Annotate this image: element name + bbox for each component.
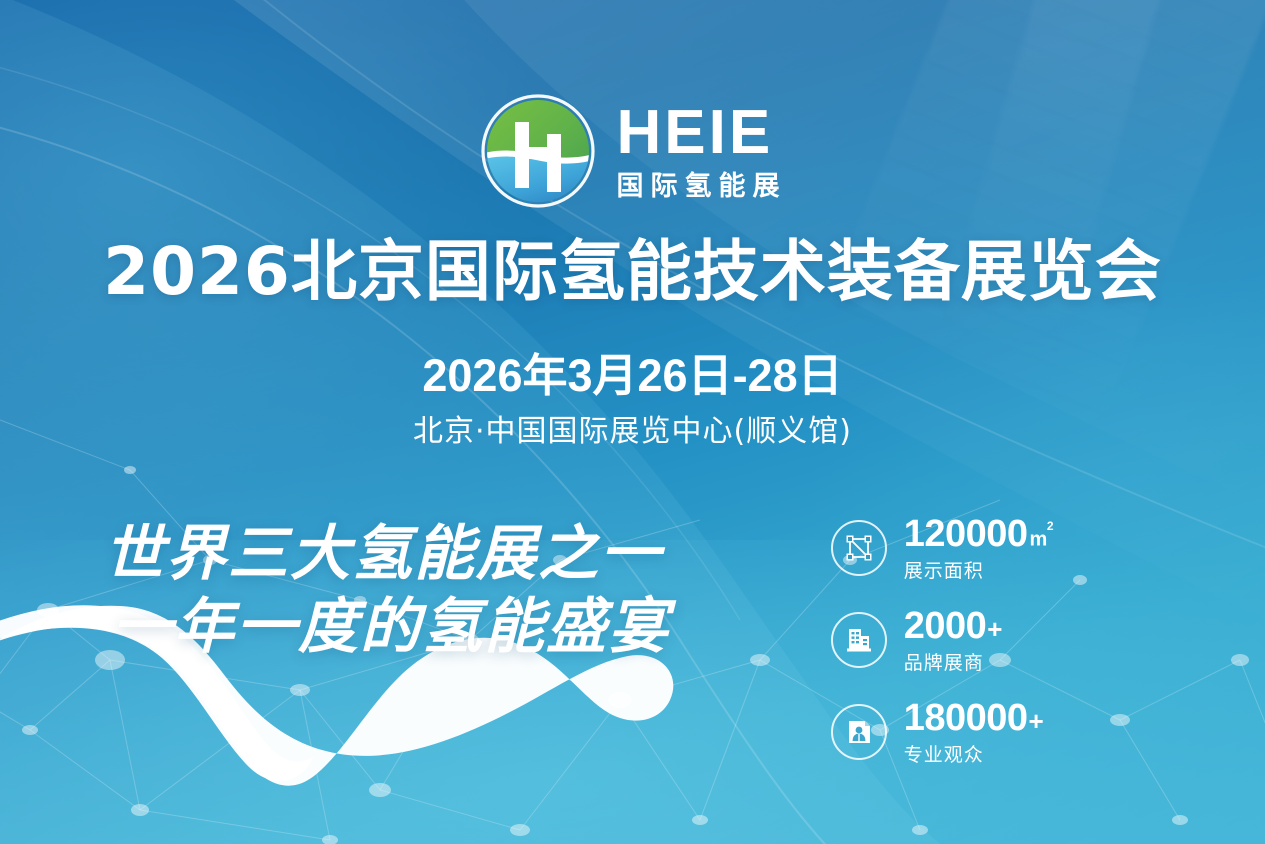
stat-body-visitors: 180000+ 专业观众 xyxy=(904,699,1044,765)
area-frame-icon xyxy=(831,520,887,576)
stat-plus-exhibitors: + xyxy=(987,616,1002,642)
stat-unit-area: m2 xyxy=(1030,528,1053,550)
stat-value-exhibitors: 2000+ xyxy=(904,607,1002,645)
stat-body-area: 120000m2 展示面积 xyxy=(904,515,1053,581)
event-slogan: 世界三大氢能展之一 一年一度的氢能盛宴 xyxy=(104,518,670,664)
stat-item-area: 120000m2 展示面积 xyxy=(831,515,1053,581)
stat-body-exhibitors: 2000+ 品牌展商 xyxy=(904,607,1002,673)
event-date: 2026年3月26日-28日 xyxy=(0,350,1265,402)
stat-number-exhibitors: 2000 xyxy=(904,607,987,645)
building-icon xyxy=(831,612,887,668)
stat-item-visitors: 180000+ 专业观众 xyxy=(831,699,1229,765)
stat-value-visitors: 180000+ xyxy=(904,699,1044,737)
stats-list: 120000m2 展示面积 xyxy=(831,515,1229,765)
stat-label-visitors: 专业观众 xyxy=(904,746,1044,765)
stat-number-visitors: 180000 xyxy=(904,699,1028,737)
stat-plus-visitors: + xyxy=(1029,708,1044,734)
stat-label-area: 展示面积 xyxy=(904,562,1053,581)
stat-value-area: 120000m2 xyxy=(904,515,1053,553)
logo-lockup: HEIE 国际氢能展 xyxy=(0,92,1265,210)
slogan-line-1: 世界三大氢能展之一 xyxy=(104,518,670,591)
event-title: 2026北京国际氢能技术装备展览会 xyxy=(0,236,1265,309)
visitor-badge-icon xyxy=(831,704,887,760)
event-venue: 北京·中国国际展览中心(顺义馆) xyxy=(0,412,1265,451)
stat-label-exhibitors: 品牌展商 xyxy=(904,654,1002,673)
heie-logo-icon xyxy=(479,92,597,210)
stat-number-area: 120000 xyxy=(904,515,1028,553)
stat-item-exhibitors: 2000+ 品牌展商 xyxy=(831,607,1141,673)
logo-text-block: HEIE 国际氢能展 xyxy=(617,102,787,200)
slogan-line-2: 一年一度的氢能盛宴 xyxy=(104,591,670,664)
logo-wordmark: HEIE xyxy=(617,102,774,164)
event-banner: HEIE 国际氢能展 2026北京国际氢能技术装备展览会 2026年3月26日-… xyxy=(0,0,1265,844)
logo-subtitle: 国际氢能展 xyxy=(617,173,787,200)
